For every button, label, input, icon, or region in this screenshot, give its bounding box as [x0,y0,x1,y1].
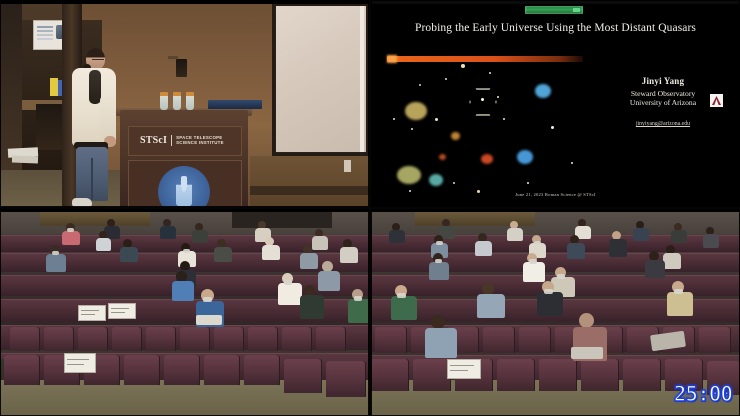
presenter-shoe [72,198,92,207]
affiliation-line1: Steward Observatory [631,89,695,98]
slide-title: Probing the Early Universe Using the Mos… [371,22,740,34]
hexagon-marker-icon [469,88,497,116]
deep-field-starfield [385,62,595,198]
wall-lamp [176,59,187,77]
wall-outlet [344,160,351,172]
reserved-seat-sign [78,305,106,321]
presenter-leg-split [91,158,93,200]
yellow-sign [50,78,58,96]
presenter [72,48,118,207]
audience-camera-left-panel[interactable] [0,209,369,416]
poster-text-lines [37,26,53,28]
slide-author-block: Jinyi Yang Steward Observatory Universit… [599,76,727,127]
stsci-fullname: SPACE TELESCOPE SCIENCE INSTITUTE [176,135,224,145]
screen-edge-highlight [360,6,364,152]
stsci-wordmark: STScI [140,135,167,146]
reserved-seat-sign [108,303,136,319]
logo-divider [171,135,172,146]
ua-letter-a [712,96,721,105]
slide-share-panel[interactable]: Probing the Early Universe Using the Mos… [371,0,740,207]
speaker-camera-panel[interactable]: STScI SPACE TELESCOPE SCIENCE INSTITUTE [0,0,369,207]
wall-lower-right [250,156,369,207]
back-doorway [232,212,332,228]
projection-screen [276,6,366,152]
water-bottles [160,92,200,110]
quad-video-layout: STScI SPACE TELESCOPE SCIENCE INSTITUTE [0,0,740,416]
presenter-arm [100,94,116,140]
paper-sheet [12,156,38,164]
seal-figure [176,176,192,206]
author-name: Jinyi Yang [599,76,727,86]
wall-trim [40,212,150,226]
affiliation-line2: University of Arizona [630,98,696,107]
reserved-seat-sign [447,359,481,379]
glasses-icon [92,59,104,63]
author-affiliation: Steward Observatory University of Arizon… [599,89,727,108]
university-of-arizona-logo-icon [710,94,723,107]
laptop [208,100,262,109]
slide-footer: June 21, 2023 Roman Science @ STScI [371,192,740,197]
countdown-timer: 25:00 [674,382,732,406]
baseboard [250,186,369,195]
author-email[interactable]: jinyiyang@arizona.edu [599,121,727,127]
green-status-indicator [525,6,583,14]
podium-stsci-logo: STScI SPACE TELESCOPE SCIENCE INSTITUTE [140,132,232,148]
laptop [571,347,603,359]
reserved-seat-sign [64,353,96,373]
audience-camera-right-panel[interactable]: 25:00 [371,209,740,416]
stsci-line2: SCIENCE INSTITUTE [176,140,224,145]
